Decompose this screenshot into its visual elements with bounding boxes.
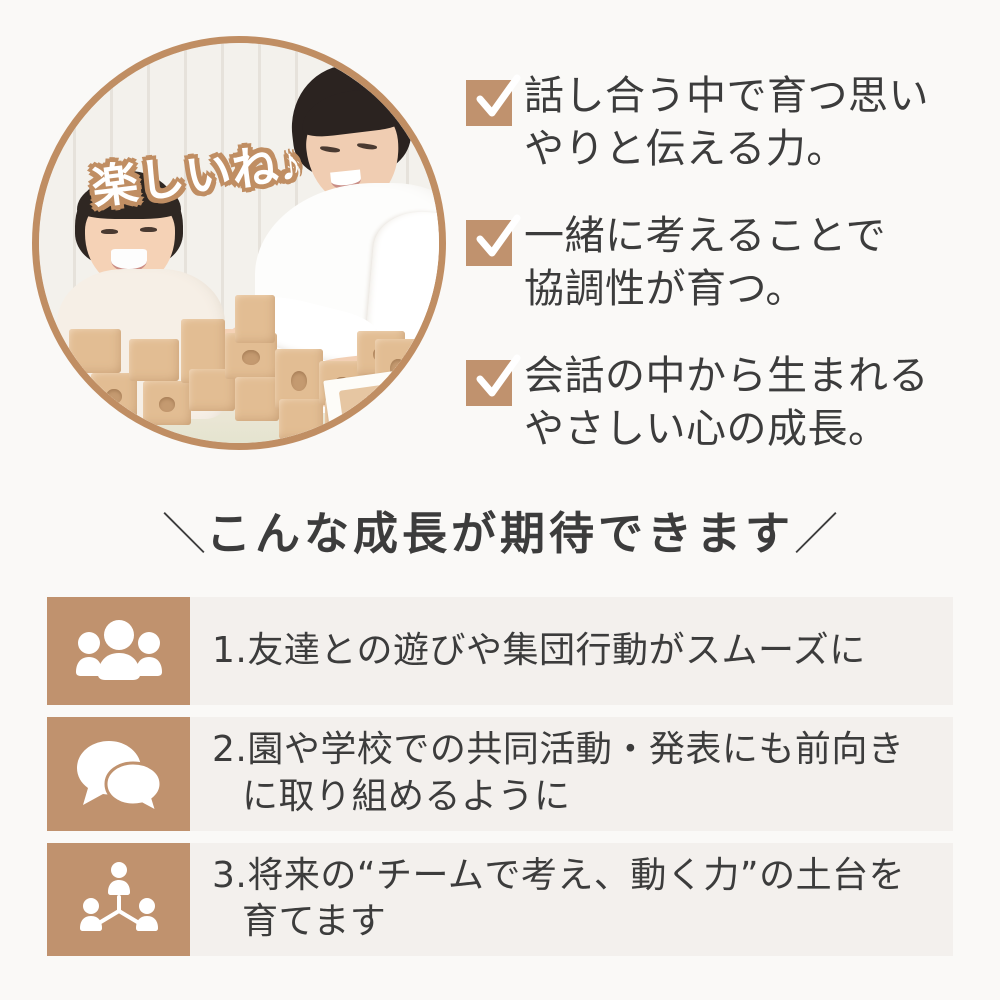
benefit-text: 3.将来の“チームで考え、動く力”の土台を 育てます (190, 843, 953, 957)
benefit-row: 3.将来の“チームで考え、動く力”の土台を 育てます (47, 843, 953, 957)
wooden-block (129, 339, 179, 381)
photo-circle: 楽しいね♪ (32, 36, 446, 450)
wooden-block (235, 377, 279, 421)
check-icon (466, 80, 512, 126)
team-hierarchy-icon (47, 843, 190, 957)
speech-bubbles-icon (47, 717, 190, 831)
benefit-line-1: 1.友達との遊びや集団行動がスムーズに (212, 630, 866, 671)
heading-slash-left: ＼ (162, 498, 206, 562)
checklist-line-2: やさしい心の成長。 (524, 406, 889, 452)
benefit-line-2: に取り組めるように (212, 774, 904, 821)
child-eye-left (101, 229, 118, 234)
checklist-text: 話し合う中で育つ思い やりと伝える力。 (524, 70, 982, 176)
checklist-item: 話し合う中で育つ思い やりと伝える力。 (462, 70, 982, 182)
benefit-text: 2.園や学校での共同活動・発表にも前向き に取り組めるように (190, 717, 953, 831)
wooden-block (279, 399, 323, 439)
wooden-block (69, 329, 121, 373)
checklist-line-2: やりと伝える力。 (524, 126, 847, 172)
benefit-line-1: 3.将来の“チームで考え、動く力”の土台を (212, 855, 905, 896)
heading-title: こんな成長が期待できます (206, 507, 794, 560)
benefit-row: 1.友達との遊びや集団行動がスムーズに (47, 597, 953, 705)
heading-slash-right: ／ (794, 498, 838, 562)
wooden-block-held-mother (235, 295, 275, 343)
checklist-line-1: 話し合う中で育つ思い (524, 73, 929, 119)
people-group-icon (47, 597, 190, 705)
benefit-checklist: 話し合う中で育つ思い やりと伝える力。 一緒に考えることで 協調性が育つ。 (462, 70, 982, 490)
checklist-line-1: 会話の中から生まれる (524, 353, 929, 399)
infographic-page: 楽しいね♪ 話し合う中で育つ思い やりと伝える力。 (0, 0, 1000, 1000)
benefit-rows: 1.友達との遊びや集団行動がスムーズに 2.園や学校での共同活動・発表にも前向き… (47, 597, 953, 968)
top-section: 楽しいね♪ 話し合う中で育つ思い やりと伝える力。 (0, 0, 1000, 480)
check-icon (466, 220, 512, 266)
benefit-line-1: 2.園や学校での共同活動・発表にも前向き (212, 729, 904, 770)
checklist-text: 会話の中から生まれる やさしい心の成長。 (524, 350, 982, 456)
checklist-item: 一緒に考えることで 協調性が育つ。 (462, 210, 982, 322)
benefit-line-2: 育てます (212, 899, 905, 946)
check-icon (466, 360, 512, 406)
checklist-line-2: 協調性が育つ。 (524, 266, 806, 312)
checklist-text: 一緒に考えることで 協調性が育つ。 (524, 210, 982, 316)
benefit-text: 1.友達との遊びや集団行動がスムーズに (190, 597, 953, 705)
wooden-block (143, 381, 191, 425)
section-heading: ＼こんな成長が期待できます／ (0, 497, 1000, 562)
benefit-row: 2.園や学校での共同活動・発表にも前向き に取り組めるように (47, 717, 953, 831)
checklist-line-1: 一緒に考えることで (524, 213, 886, 259)
photo-image (39, 43, 439, 443)
child-eye-right (140, 227, 157, 232)
checklist-item: 会話の中から生まれる やさしい心の成長。 (462, 350, 982, 462)
